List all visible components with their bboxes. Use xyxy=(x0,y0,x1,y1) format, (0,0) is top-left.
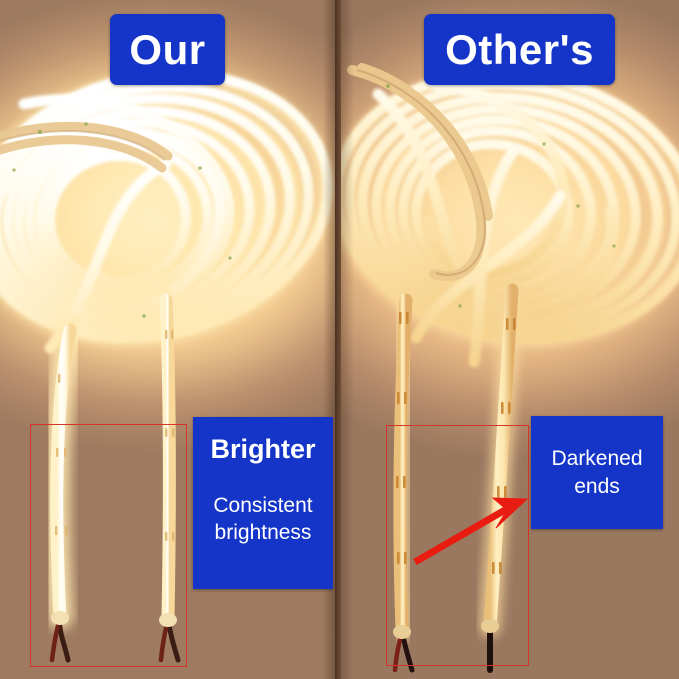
badge-others: Other's xyxy=(424,14,615,85)
comparison-image: Our Other's Brighter Consistent brightne… xyxy=(0,0,679,679)
arrow-pointing-up-right-icon xyxy=(380,470,550,580)
callout-darkened-line2: ends xyxy=(574,473,620,500)
callout-brighter-title: Brighter xyxy=(210,435,315,463)
callout-brighter-subtitle: Consistent brightness xyxy=(201,493,325,546)
highlight-rectangle-our xyxy=(30,424,187,667)
callout-darkened-ends: Darkened ends xyxy=(531,416,663,529)
badge-our-label: Our xyxy=(129,29,205,71)
badge-our: Our xyxy=(110,14,225,85)
callout-brighter: Brighter Consistent brightness xyxy=(193,417,333,589)
badge-others-label: Other's xyxy=(445,29,594,71)
panel-divider xyxy=(335,0,341,679)
callout-darkened-line1: Darkened xyxy=(551,445,642,472)
